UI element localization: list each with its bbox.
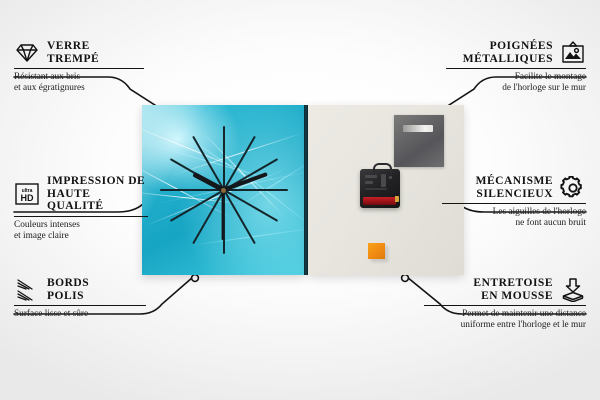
feature-mecanisme-silencieux: MÉCANISME SILENCIEUX Les aiguilles de l'… — [442, 175, 586, 229]
feature-divider — [14, 68, 144, 69]
quartz-mechanism — [360, 169, 400, 208]
feature-entretoise-en-mousse: ENTRETOISE EN MOUSSE Permet de maintenir… — [424, 277, 586, 331]
feature-description-line-1: Résistant aux bris — [14, 72, 144, 83]
feature-description-line-2: et image claire — [14, 231, 148, 242]
feature-divider — [442, 203, 586, 204]
clock-tick — [223, 126, 225, 190]
clock-face-front — [142, 105, 304, 275]
arrow-down-pad-icon — [560, 278, 586, 302]
feature-title-line-2: HAUTE QUALITÉ — [47, 188, 148, 213]
feature-title-line-1: POIGNÉES — [463, 40, 553, 53]
feature-description-line-2: ne font aucun bruit — [442, 218, 586, 229]
feature-divider — [14, 216, 148, 217]
feature-description-line-1: Permet de maintenir une distance — [424, 309, 586, 320]
feature-description-line-1: Couleurs intenses — [14, 220, 148, 231]
feature-description-line-1: Facilite le montage — [446, 72, 586, 83]
feature-divider — [446, 68, 586, 69]
ultra-hd-icon: ultra HD — [14, 182, 40, 206]
feature-divider — [424, 305, 586, 306]
feature-description-line-1: Les aiguilles de l'horloge — [442, 207, 586, 218]
endpoint-marker-entretoise — [402, 275, 409, 282]
diamond-icon — [14, 42, 40, 64]
clock-center-hub — [221, 188, 226, 193]
feature-title-line-2: SILENCIEUX — [476, 188, 553, 201]
feature-title-line-1: VERRE — [47, 40, 99, 53]
feature-description-line-1: Surface lisse et sûre — [14, 309, 146, 320]
gear-icon — [560, 176, 586, 200]
product-photo — [142, 105, 464, 275]
feature-divider — [14, 305, 146, 306]
clock-tick — [224, 189, 288, 191]
hanger-slot — [403, 125, 433, 132]
framed-picture-hanger-icon — [560, 41, 586, 65]
feature-verre-trempe: VERRE TREMPÉ Résistant aux bris et aux é… — [14, 40, 144, 94]
feature-title-line-1: ENTRETOISE — [473, 277, 553, 290]
foam-spacer — [368, 243, 385, 259]
feature-impression-haute-qualite: ultra HD IMPRESSION DE HAUTE QUALITÉ Cou… — [14, 175, 148, 242]
battery-terminal — [395, 196, 399, 202]
endpoint-marker-bords-polis — [192, 275, 199, 282]
feature-title-line-2: TREMPÉ — [47, 53, 99, 66]
clock-second-hand — [222, 190, 224, 240]
clock-tick — [160, 189, 224, 191]
feature-description-line-2: de l'horloge sur le mur — [446, 83, 586, 94]
battery — [363, 197, 396, 205]
feature-poignees-metalliques: POIGNÉES MÉTALLIQUES Facilite le montage… — [446, 40, 586, 94]
svg-text:HD: HD — [21, 193, 34, 203]
infographic-canvas: VERRE TREMPÉ Résistant aux bris et aux é… — [0, 0, 600, 400]
feature-title-line-2: POLIS — [47, 290, 89, 303]
feature-title-line-2: MÉTALLIQUES — [463, 53, 553, 66]
feature-title-line-2: EN MOUSSE — [473, 290, 553, 303]
feature-bords-polis: BORDS POLIS Surface lisse et sûre — [14, 277, 146, 320]
feature-title-line-1: BORDS — [47, 277, 89, 290]
feature-description-line-2: uniforme entre l'horloge et le mur — [424, 320, 586, 331]
mechanism-hanging-loop — [373, 163, 392, 174]
feature-title-line-1: MÉCANISME — [476, 175, 553, 188]
metal-hanger-plate — [394, 115, 444, 167]
polished-edges-icon — [14, 278, 40, 302]
feature-description-line-2: et aux égratignures — [14, 83, 144, 94]
feature-title-line-1: IMPRESSION DE — [47, 175, 148, 188]
clock-back-panel — [308, 105, 464, 275]
